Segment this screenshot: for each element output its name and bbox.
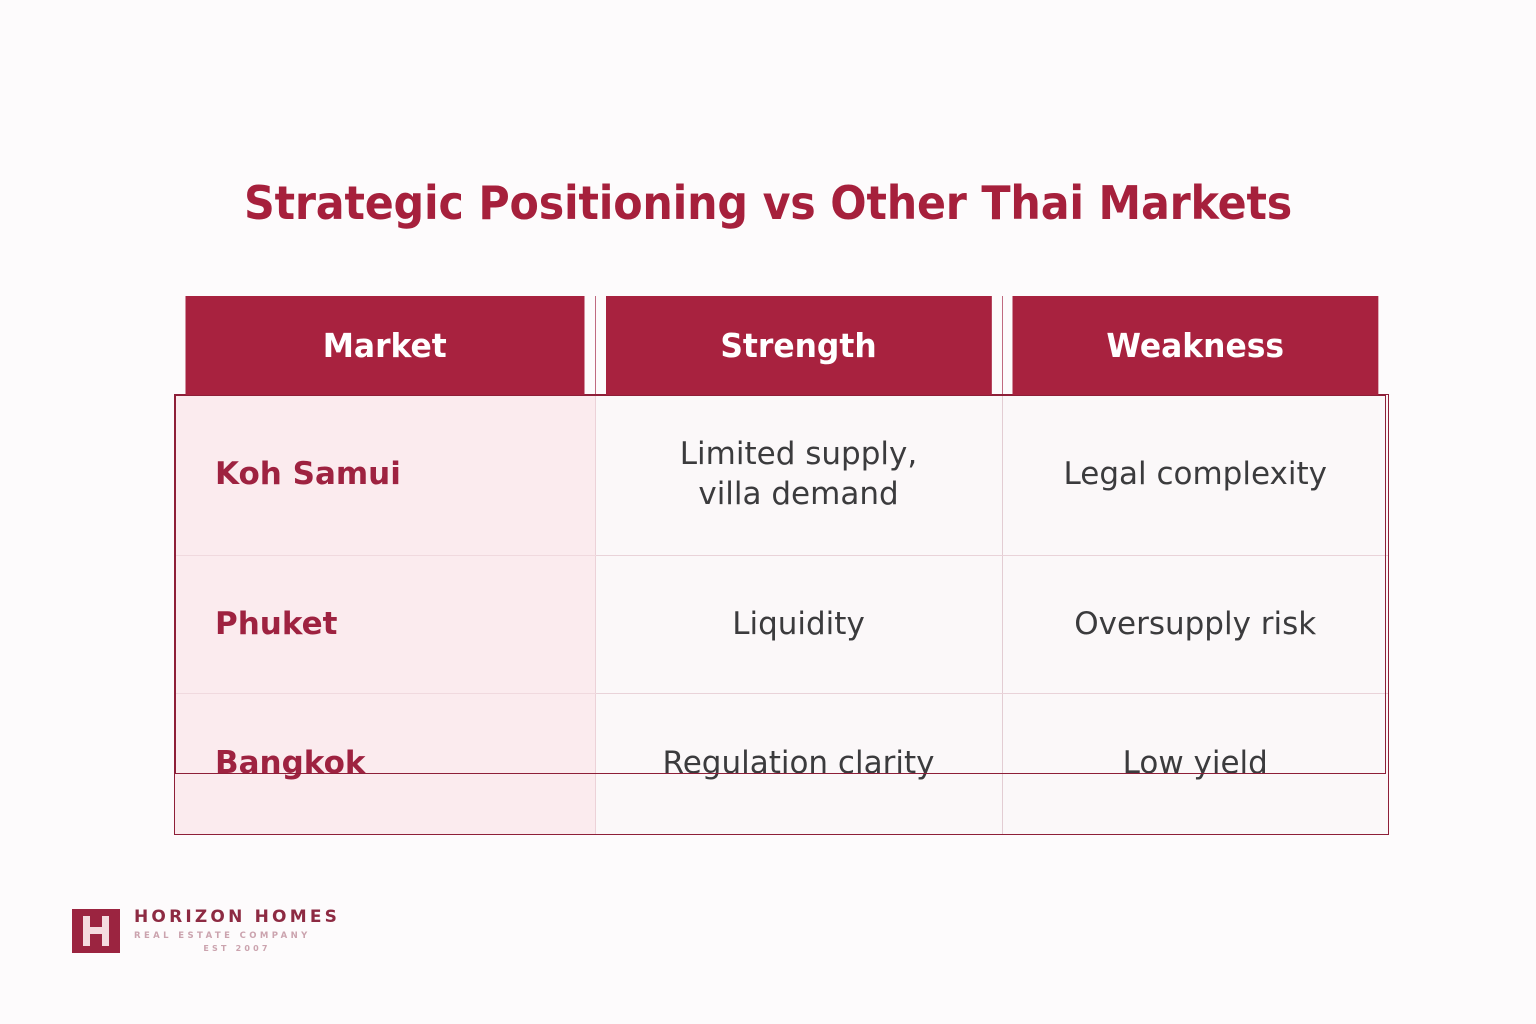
horizon-homes-monogram-icon <box>72 909 120 953</box>
company-logo: HORIZON HOMES REAL ESTATE COMPANY EST 20… <box>72 908 340 954</box>
cell-strength-phuket: Liquidity <box>595 556 1002 694</box>
table-row: Phuket Liquidity Oversupply risk <box>175 556 1388 694</box>
cell-weakness-koh-samui: Legal complexity <box>1002 395 1388 556</box>
logo-wordmark: HORIZON HOMES REAL ESTATE COMPANY EST 20… <box>134 908 340 954</box>
table-row: Bangkok Regulation clarity Low yield <box>175 694 1388 835</box>
page-title: Strategic Positioning vs Other Thai Mark… <box>54 176 1482 230</box>
table-body: Koh Samui Limited supply,villa demand Le… <box>175 395 1388 834</box>
monogram-right-bar <box>102 916 109 946</box>
cell-weakness-phuket: Oversupply risk <box>1002 556 1388 694</box>
logo-established: EST 2007 <box>134 943 340 954</box>
column-header-weakness: Weakness <box>1012 296 1379 395</box>
comparison-table-container: Market Strength Weakness Koh Samui Limit… <box>175 296 1388 834</box>
table-row: Koh Samui Limited supply,villa demand Le… <box>175 395 1388 556</box>
logo-company-name: HORIZON HOMES <box>134 908 340 928</box>
cell-market-bangkok: Bangkok <box>175 694 595 835</box>
column-header-market: Market <box>186 296 585 395</box>
cell-strength-koh-samui: Limited supply,villa demand <box>595 395 1002 556</box>
column-header-strength: Strength <box>605 296 992 395</box>
table-header: Market Strength Weakness <box>175 296 1388 395</box>
cell-weakness-bangkok: Low yield <box>1002 694 1388 835</box>
comparison-table: Market Strength Weakness Koh Samui Limit… <box>175 296 1388 834</box>
cell-strength-bangkok: Regulation clarity <box>595 694 1002 835</box>
cell-market-phuket: Phuket <box>175 556 595 694</box>
logo-tagline: REAL ESTATE COMPANY <box>134 930 340 943</box>
cell-market-koh-samui: Koh Samui <box>175 395 595 556</box>
table-header-row: Market Strength Weakness <box>175 296 1388 395</box>
